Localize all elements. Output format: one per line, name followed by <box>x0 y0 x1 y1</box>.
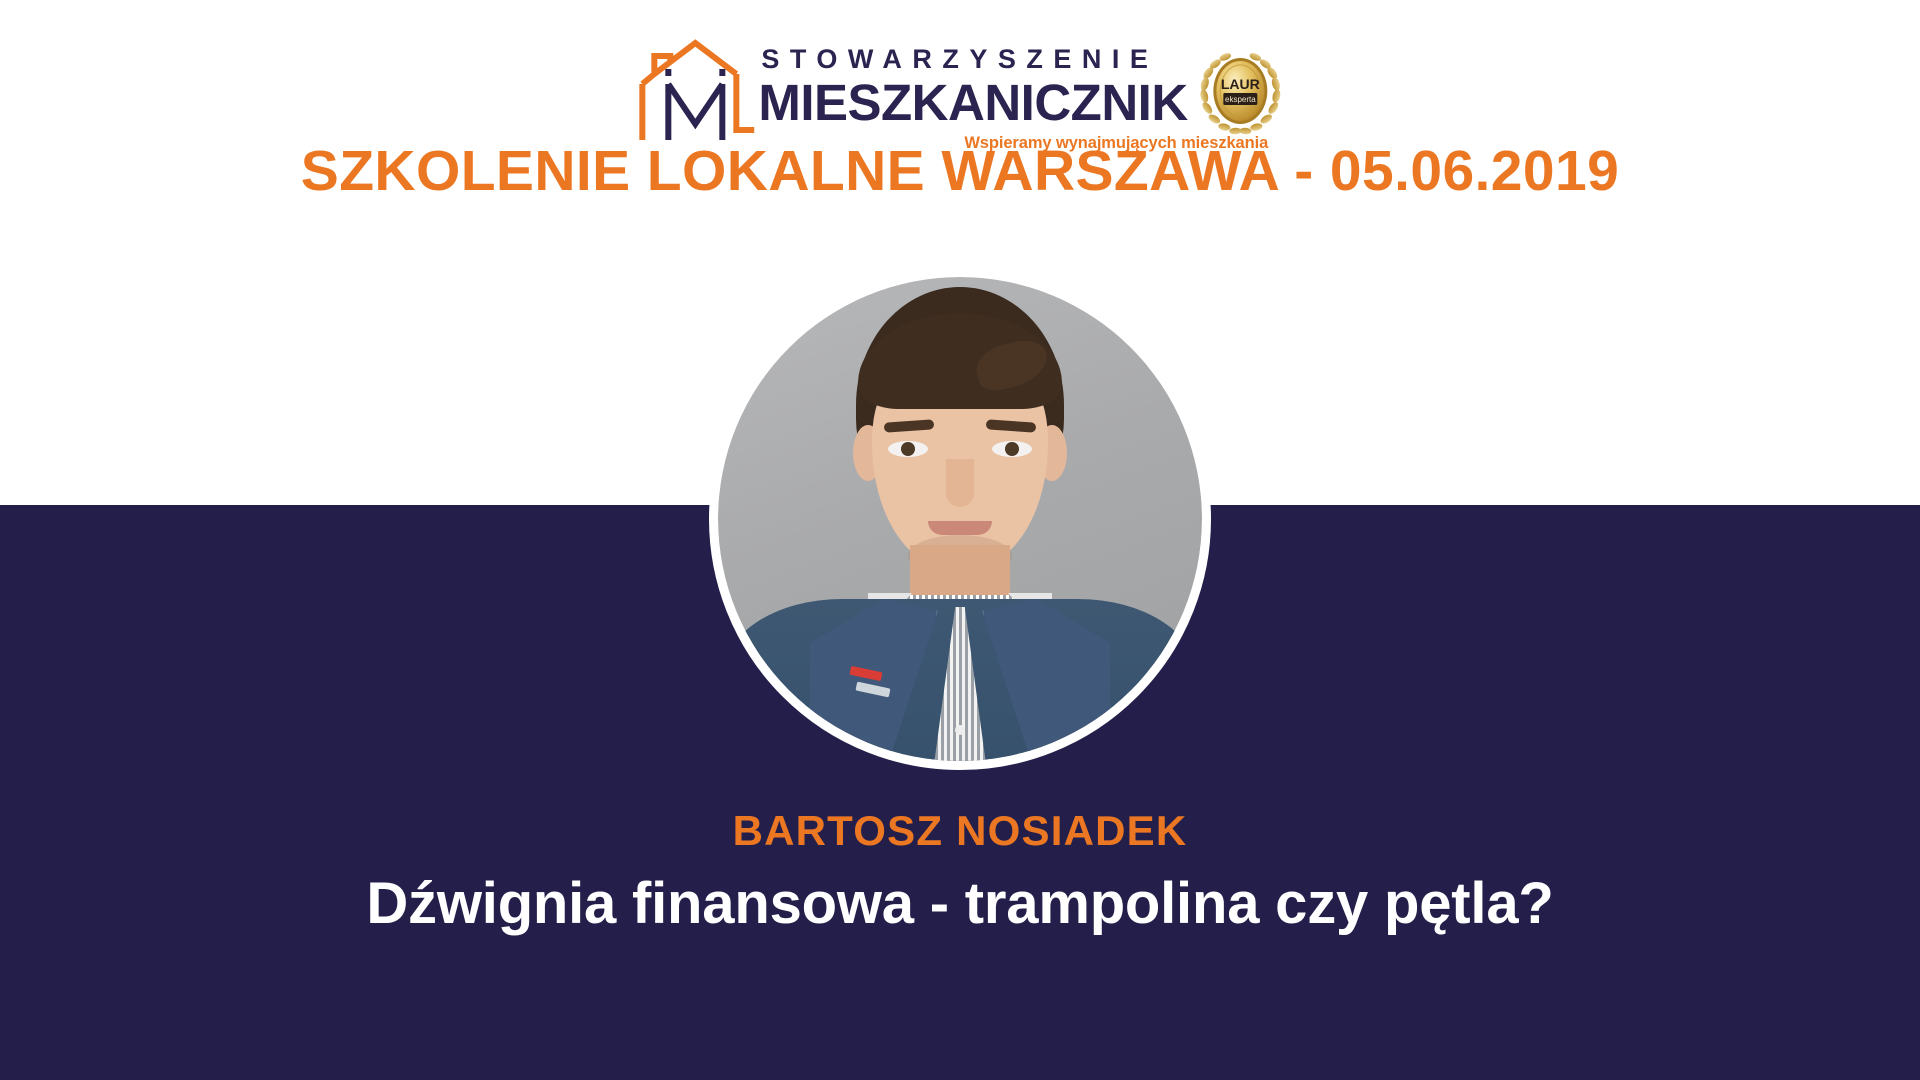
portrait-mouth <box>928 521 992 535</box>
speaker-photo-frame <box>709 268 1211 770</box>
house-m-logo-icon <box>636 38 754 142</box>
speaker-topic-title: Dźwignia finansowa - trampolina czy pętl… <box>0 872 1920 936</box>
badge-laur-text: LAUR <box>1221 76 1260 92</box>
portrait-shirt-button <box>955 725 965 735</box>
portrait-eye-left <box>888 441 928 457</box>
speaker-avatar <box>718 277 1202 761</box>
event-headline: SZKOLENIE LOKALNE WARSZAWA - 05.06.2019 <box>0 140 1920 204</box>
portrait-nose <box>946 459 974 507</box>
brand-line-stowarzyszenie: STOWARZYSZENIE <box>758 46 1187 73</box>
event-poster: STOWARZYSZENIE MIESZKANICZNIK Wspieramy … <box>0 0 1920 1080</box>
brand-line-mieszkanicznik: MIESZKANICZNIK <box>758 76 1187 130</box>
badge-eksperta-text: eksperta <box>1225 95 1256 104</box>
laur-eksperta-badge-icon: LAUR eksperta <box>1198 39 1284 143</box>
brand-logo[interactable]: STOWARZYSZENIE MIESZKANICZNIK Wspieramy … <box>636 38 1283 146</box>
portrait-eye-right <box>992 441 1032 457</box>
speaker-name: BARTOSZ NOSIADEK <box>0 808 1920 854</box>
brand-wordmark: STOWARZYSZENIE MIESZKANICZNIK Wspieramy … <box>758 38 1187 130</box>
